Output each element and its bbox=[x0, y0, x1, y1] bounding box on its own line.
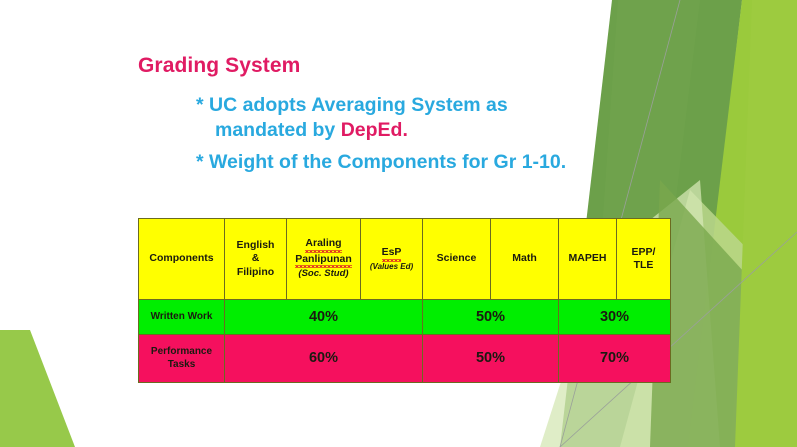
header-ampersand-label: & bbox=[227, 252, 284, 265]
header-cell-araling-panlipunan: Araling Panlipunan (Soc. Stud) bbox=[287, 219, 361, 300]
bg-shape-bright-green-2 bbox=[730, 0, 797, 447]
header-components-label: Components bbox=[141, 252, 222, 265]
header-cell-components: Components bbox=[139, 219, 225, 300]
header-araling-sub-label: (Soc. Stud) bbox=[289, 268, 358, 280]
deped-highlight: DepEd bbox=[341, 119, 403, 141]
bg-shape-bright-right bbox=[735, 0, 797, 447]
table-row-performance-tasks: Performance Tasks 60% 50% 70% bbox=[139, 335, 671, 383]
performance-value-sciences: 50% bbox=[423, 335, 559, 383]
row-label-performance-tasks: Performance Tasks bbox=[139, 335, 225, 383]
bg-shape-bright-green-1 bbox=[688, 0, 797, 447]
written-work-value-sciences: 50% bbox=[423, 300, 559, 335]
row-label-written-work: Written Work bbox=[139, 300, 225, 335]
slide-title: Grading System bbox=[138, 54, 300, 78]
performance-value-mapeh-epp: 70% bbox=[559, 335, 671, 383]
bullet-list: * UC adopts Averaging System as mandated… bbox=[196, 93, 666, 174]
header-science-label: Science bbox=[425, 252, 488, 265]
header-cell-mapeh: MAPEH bbox=[559, 219, 617, 300]
deped-period: . bbox=[402, 119, 407, 141]
bullet-1-line-2-text: mandated by bbox=[215, 119, 341, 141]
table-row-written-work: Written Work 40% 50% 30% bbox=[139, 300, 671, 335]
table-header-row: Components English & Filipino Araling Pa… bbox=[139, 219, 671, 300]
header-filipino-label: Filipino bbox=[227, 266, 284, 279]
written-work-value-mapeh-epp: 30% bbox=[559, 300, 671, 335]
header-cell-english-filipino: English & Filipino bbox=[225, 219, 287, 300]
header-araling-label: Araling bbox=[289, 237, 358, 252]
bullet-1-line-1: * UC adopts Averaging System as bbox=[196, 93, 666, 118]
bg-shape-olive-overlay bbox=[650, 180, 797, 447]
header-panlipunan-label: Panlipunan bbox=[289, 253, 358, 268]
header-epp-label: EPP/ bbox=[619, 246, 668, 259]
performance-value-languages: 60% bbox=[225, 335, 423, 383]
header-esp-sub-label: (Values Ed) bbox=[363, 262, 420, 272]
header-tle-label: TLE bbox=[619, 259, 668, 272]
header-mapeh-label: MAPEH bbox=[561, 252, 614, 265]
bullet-spacer bbox=[196, 143, 666, 150]
header-cell-science: Science bbox=[423, 219, 491, 300]
header-math-label: Math bbox=[493, 252, 556, 265]
bullet-2-line-1: * Weight of the Components for Gr 1-10. bbox=[196, 150, 666, 175]
header-cell-math: Math bbox=[491, 219, 559, 300]
slide-canvas: Grading System * UC adopts Averaging Sys… bbox=[0, 0, 797, 447]
header-cell-esp: EsP (Values Ed) bbox=[361, 219, 423, 300]
header-cell-epp-tle: EPP/ TLE bbox=[617, 219, 671, 300]
header-esp-label: EsP bbox=[363, 246, 420, 261]
row-label-performance-line-2: Tasks bbox=[141, 359, 222, 372]
row-label-performance-line-1: Performance bbox=[141, 346, 222, 359]
bullet-1-line-2: mandated by DepEd. bbox=[196, 118, 666, 143]
written-work-value-languages: 40% bbox=[225, 300, 423, 335]
grading-weights-table: Components English & Filipino Araling Pa… bbox=[138, 218, 671, 383]
bg-shape-left-wedge bbox=[0, 330, 75, 447]
header-english-label: English bbox=[227, 239, 284, 252]
